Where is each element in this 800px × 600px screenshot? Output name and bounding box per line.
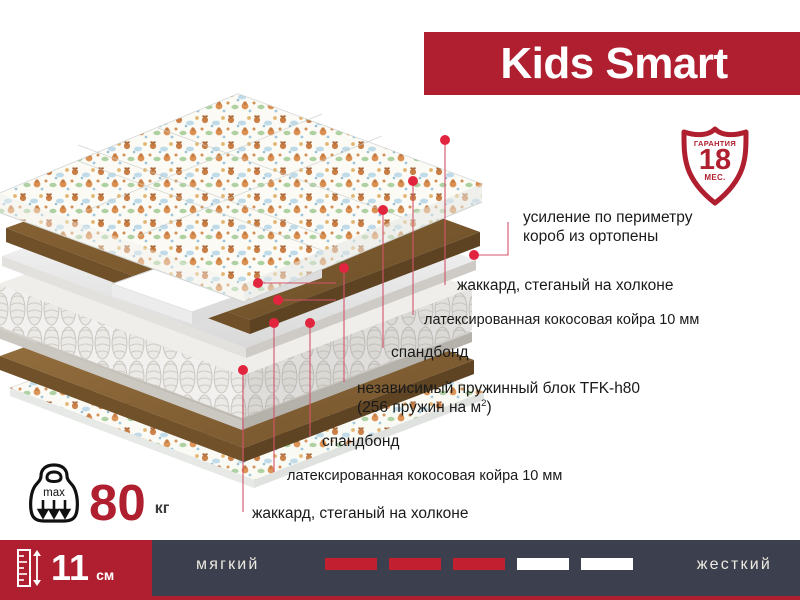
firmness-scale bbox=[325, 558, 633, 570]
callout-ortofoam-box: короб из ортопены bbox=[523, 228, 658, 246]
firmness-segment-5 bbox=[581, 558, 633, 570]
kettlebell-max-label: max bbox=[43, 487, 65, 499]
firmness-hard-label: жесткий bbox=[697, 556, 772, 574]
bottom-red-stripe bbox=[0, 596, 800, 600]
callout-coir-bottom: латексированная кокосовая койра 10 мм bbox=[287, 468, 562, 485]
weight-limit-badge: max 80 кг bbox=[28, 462, 169, 524]
firmness-segment-3 bbox=[453, 558, 505, 570]
callout-jacquard-top: жаккард, стеганый на холконе bbox=[457, 277, 673, 295]
kettlebell-icon: max bbox=[28, 462, 80, 524]
bottom-bar: 11 см мягкий жесткий bbox=[0, 540, 800, 600]
firmness-segment-4 bbox=[517, 558, 569, 570]
firmness-segment-2 bbox=[389, 558, 441, 570]
weight-limit-unit: кг bbox=[155, 500, 170, 524]
infographic-canvas: Kids Smart ГАРАНТИЯ 18 МЕС. усиление по … bbox=[0, 0, 800, 600]
height-value: 11 bbox=[51, 552, 89, 584]
callout-spring-count-tail: ) bbox=[486, 399, 491, 416]
product-title-banner: Kids Smart bbox=[424, 32, 800, 95]
callout-spring-count-text: (256 пружин на м bbox=[357, 399, 481, 416]
ruler-icon bbox=[16, 548, 44, 588]
firmness-soft-label: мягкий bbox=[196, 556, 260, 574]
callout-spunbond-top: спандбонд bbox=[391, 344, 468, 362]
weight-limit-value: 80 bbox=[89, 481, 146, 524]
callout-perimeter: усиление по периметру bbox=[523, 209, 692, 227]
callout-spunbond-bottom: спандбонд bbox=[322, 433, 399, 451]
mattress-illustration bbox=[0, 88, 492, 500]
height-badge: 11 см bbox=[0, 540, 152, 596]
page-title: Kids Smart bbox=[500, 42, 727, 86]
callout-coir-top: латексированная кокосовая койра 10 мм bbox=[424, 312, 699, 329]
callout-spring-count: (256 пружин на м2) bbox=[357, 398, 492, 417]
warranty-badge: ГАРАНТИЯ 18 МЕС. bbox=[679, 126, 751, 206]
callout-spring-block: независимый пружинный блок TFK-h80 bbox=[357, 380, 640, 398]
shield-icon bbox=[679, 126, 751, 206]
callout-jacquard-bottom: жаккард, стеганый на холконе bbox=[252, 505, 468, 523]
firmness-segment-1 bbox=[325, 558, 377, 570]
height-unit: см bbox=[96, 553, 114, 583]
